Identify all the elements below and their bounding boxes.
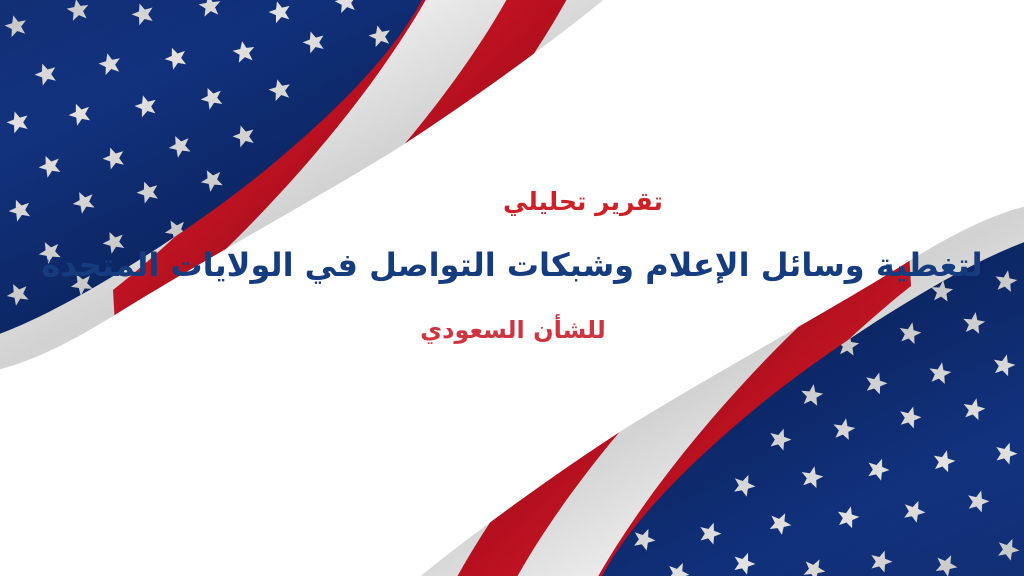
slide-text-block: تقرير تحليلي لتغطية وسائل الإعلام وشبكات… [0, 186, 1024, 346]
slide-kicker: تقرير تحليلي [0, 186, 1024, 217]
slide-title: لتغطية وسائل الإعلام وشبكات التواصل في ا… [0, 245, 1024, 287]
title-slide: تقرير تحليلي لتغطية وسائل الإعلام وشبكات… [0, 0, 1024, 576]
slide-subtitle: للشأن السعودي [0, 315, 1024, 346]
